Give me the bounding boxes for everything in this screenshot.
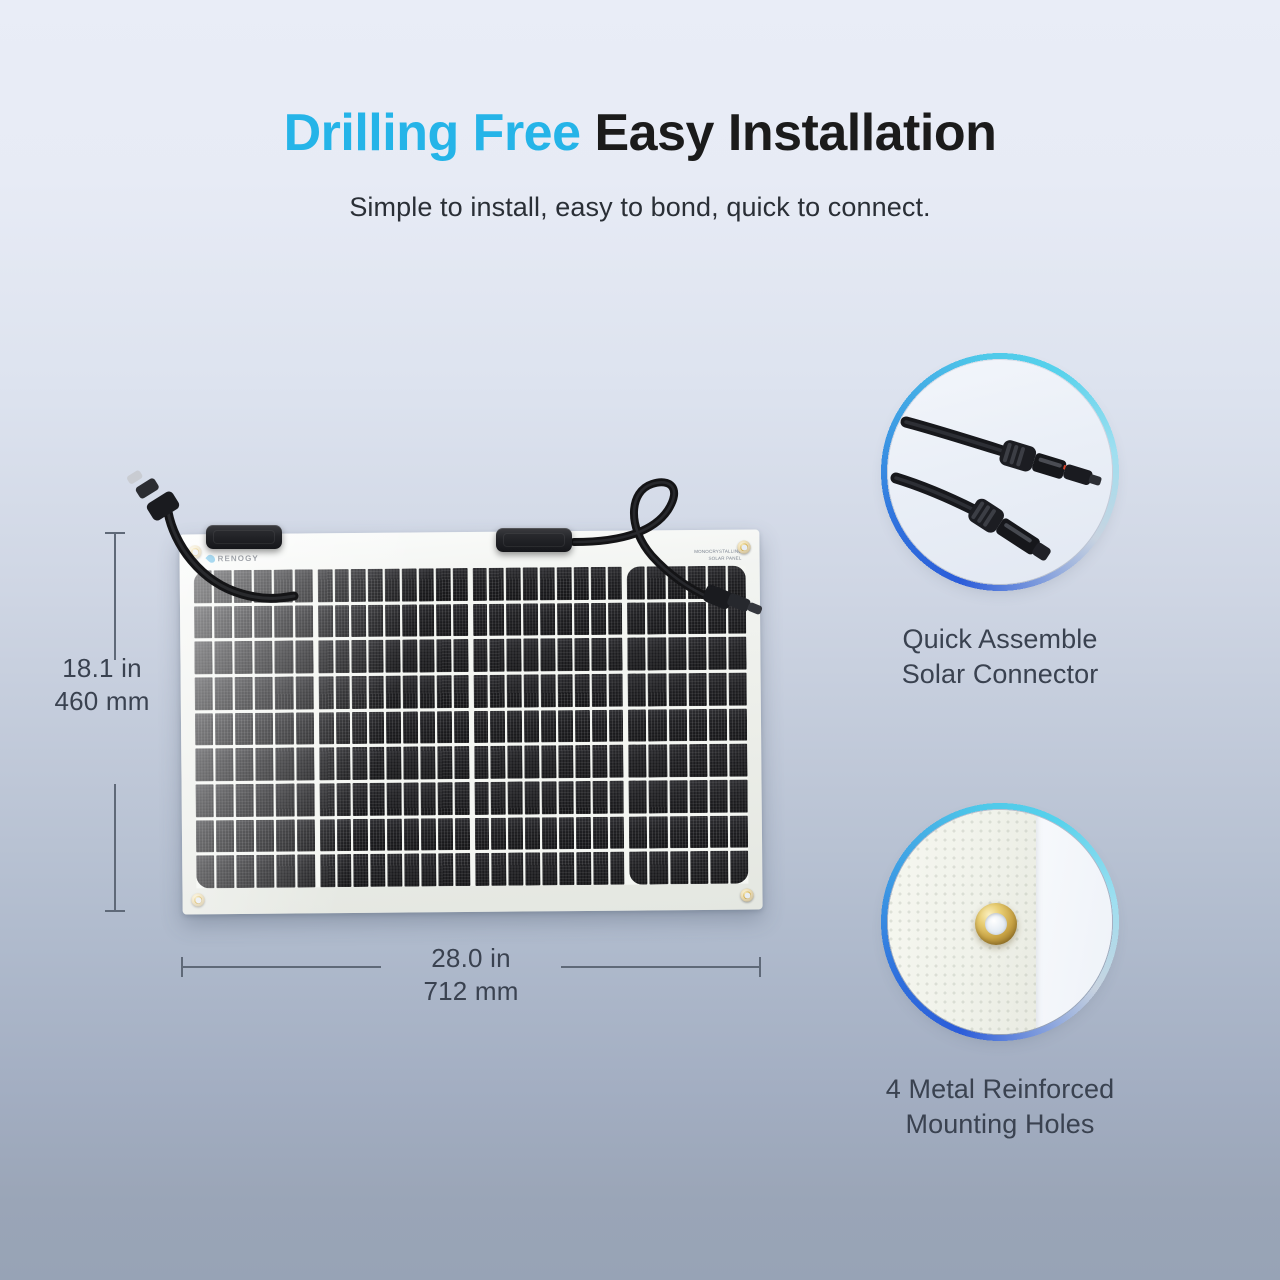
dimension-width-segment-right xyxy=(561,966,761,968)
solar-cell xyxy=(728,673,746,706)
cell-group-2 xyxy=(317,568,470,887)
solar-cell xyxy=(730,815,748,848)
solar-cell xyxy=(559,817,574,850)
solar-cell xyxy=(558,781,573,814)
solar-cell xyxy=(542,853,557,886)
solar-cell xyxy=(649,780,667,813)
dimension-width-segment-left xyxy=(181,966,381,968)
solar-cell xyxy=(420,711,435,744)
solar-cell xyxy=(557,638,572,671)
solar-cell xyxy=(196,856,214,889)
solar-cell xyxy=(728,566,746,599)
solar-cell xyxy=(593,852,608,885)
feature-solar-connector: Quick Assemble Solar Connector xyxy=(880,352,1120,691)
solar-cell xyxy=(419,640,434,673)
solar-cell xyxy=(438,818,453,851)
solar-cell xyxy=(540,603,555,636)
solar-cell xyxy=(474,818,489,851)
solar-cell xyxy=(370,854,385,887)
solar-cell xyxy=(254,605,272,638)
solar-cell xyxy=(436,640,451,673)
brand-name: RENOGY xyxy=(218,554,259,563)
solar-cell xyxy=(507,746,522,779)
dimension-width-line xyxy=(181,966,761,968)
solar-cell xyxy=(668,673,686,706)
dimension-width-metric: 712 mm xyxy=(181,975,761,1008)
solar-cell xyxy=(574,674,589,707)
solar-cell xyxy=(385,604,400,637)
solar-cell xyxy=(576,817,591,850)
cell-row xyxy=(319,711,469,745)
solar-cell xyxy=(523,603,538,636)
solar-cell xyxy=(627,566,645,599)
cell-row xyxy=(195,712,314,746)
solar-cell xyxy=(492,853,507,886)
solar-cell xyxy=(708,601,726,634)
cell-row xyxy=(474,816,624,850)
solar-cell xyxy=(295,641,313,674)
solar-cell xyxy=(435,568,450,601)
solar-cell xyxy=(351,605,366,638)
solar-cell xyxy=(524,674,539,707)
marketing-image-stage: Drilling Free Easy Installation Simple t… xyxy=(0,0,1280,1280)
dimension-height-cap-bottom xyxy=(105,910,125,912)
solar-cell xyxy=(609,781,624,814)
solar-cell xyxy=(649,816,667,849)
solar-cell xyxy=(473,675,488,708)
solar-cell xyxy=(557,674,572,707)
solar-cell xyxy=(558,710,573,743)
solar-cell xyxy=(215,713,233,746)
solar-cell xyxy=(648,673,666,706)
solar-cell xyxy=(608,638,623,671)
solar-cell xyxy=(540,567,555,600)
solar-cell xyxy=(334,569,349,602)
solar-cell xyxy=(354,854,369,887)
cell-row xyxy=(472,567,622,601)
solar-cell xyxy=(669,780,687,813)
solar-cell xyxy=(296,748,314,781)
junction-box-left xyxy=(206,525,282,549)
solar-cell xyxy=(609,745,624,778)
solar-cell xyxy=(608,709,623,742)
solar-cell xyxy=(707,566,725,599)
solar-cell xyxy=(351,569,366,602)
cell-row xyxy=(318,639,468,673)
solar-cell xyxy=(419,568,434,601)
panel-spec-text: MONOCRYSTALLINESOLAR PANEL xyxy=(694,549,741,563)
cell-row xyxy=(196,783,315,817)
solar-cell xyxy=(421,818,436,851)
solar-cell xyxy=(256,784,274,817)
solar-cell xyxy=(385,569,400,602)
solar-cell xyxy=(708,673,726,706)
solar-cell xyxy=(541,746,556,779)
cell-row xyxy=(474,781,624,815)
solar-cell xyxy=(648,638,666,671)
solar-cell xyxy=(194,642,212,675)
solar-cell xyxy=(420,747,435,780)
solar-cell xyxy=(256,748,274,781)
solar-cell xyxy=(689,816,707,849)
solar-cell xyxy=(688,637,706,670)
solar-cell xyxy=(214,606,232,639)
solar-cell xyxy=(421,854,436,887)
solar-cell xyxy=(437,747,452,780)
feature-caption-connector-line2: Solar Connector xyxy=(880,657,1120,692)
solar-cell xyxy=(559,852,574,885)
solar-cell xyxy=(234,570,252,603)
solar-cell xyxy=(454,782,469,815)
solar-cell xyxy=(490,710,505,743)
solar-cell xyxy=(453,604,468,637)
solar-cell xyxy=(352,676,367,709)
solar-cell xyxy=(542,817,557,850)
solar-cell xyxy=(576,852,591,885)
cell-row xyxy=(194,569,313,603)
solar-cell xyxy=(297,855,315,888)
solar-cell xyxy=(420,782,435,815)
solar-cell xyxy=(296,819,314,852)
solar-cell xyxy=(490,639,505,672)
solar-cell xyxy=(687,566,705,599)
feature-caption-grommet-line2: Mounting Holes xyxy=(880,1107,1120,1142)
solar-cell xyxy=(353,819,368,852)
cell-row xyxy=(317,568,467,602)
solar-cell xyxy=(557,603,572,636)
solar-cell xyxy=(404,782,419,815)
solar-cell xyxy=(319,783,334,816)
solar-cell xyxy=(628,709,646,742)
solar-cell xyxy=(369,640,384,673)
solar-cell xyxy=(525,853,540,886)
solar-cell xyxy=(590,567,605,600)
solar-cell xyxy=(575,745,590,778)
cell-row xyxy=(473,674,623,708)
solar-cell xyxy=(689,744,707,777)
solar-cell xyxy=(688,673,706,706)
solar-cell xyxy=(506,603,521,636)
solar-cell xyxy=(728,637,746,670)
solar-cell xyxy=(368,569,383,602)
solar-cell xyxy=(295,712,313,745)
solar-cell xyxy=(195,677,213,710)
solar-cell xyxy=(670,851,688,884)
solar-cell xyxy=(524,710,539,743)
feature-caption-connector-line1: Quick Assemble xyxy=(880,622,1120,657)
cell-row xyxy=(628,637,747,671)
solar-cell xyxy=(507,710,522,743)
mounting-grommet-top-right xyxy=(737,541,750,554)
solar-cell xyxy=(473,639,488,672)
solar-cell xyxy=(387,854,402,887)
solar-cell xyxy=(335,640,350,673)
solar-cell xyxy=(558,745,573,778)
solar-cell xyxy=(575,710,590,743)
mounting-grommet-bottom-right xyxy=(740,889,753,902)
solar-cell xyxy=(454,711,469,744)
solar-cell xyxy=(573,567,588,600)
solar-cell xyxy=(402,568,417,601)
solar-cell xyxy=(275,712,293,745)
cell-row xyxy=(629,851,748,885)
solar-cell xyxy=(523,567,538,600)
solar-cell xyxy=(710,815,728,848)
solar-cell xyxy=(419,604,434,637)
solar-cell xyxy=(508,817,523,850)
solar-cell xyxy=(648,709,666,742)
solar-cell xyxy=(194,570,212,603)
solar-cell xyxy=(369,711,384,744)
solar-cell xyxy=(689,780,707,813)
solar-cell xyxy=(710,851,728,884)
cell-row xyxy=(320,818,470,852)
solar-cell xyxy=(319,712,334,745)
feature-caption-grommet: 4 Metal Reinforced Mounting Holes xyxy=(880,1072,1120,1141)
solar-cell xyxy=(236,855,254,888)
solar-cell xyxy=(255,677,273,710)
solar-cell xyxy=(276,748,294,781)
solar-cell xyxy=(236,784,254,817)
cell-row xyxy=(320,853,470,887)
solar-cell xyxy=(215,748,233,781)
cell-row xyxy=(195,676,314,710)
dimension-height-label: 18.1 in 460 mm xyxy=(12,652,192,717)
solar-cell xyxy=(295,605,313,638)
dimension-height-segment-bottom xyxy=(114,784,116,912)
cell-group-3 xyxy=(472,567,625,886)
solar-cell xyxy=(387,818,402,851)
mounting-grommet-top-left xyxy=(188,545,201,558)
solar-cell xyxy=(386,711,401,744)
solar-cell xyxy=(489,568,504,601)
solar-cell xyxy=(404,854,419,887)
solar-cell xyxy=(386,676,401,709)
solar-cell xyxy=(453,639,468,672)
solar-cell xyxy=(574,638,589,671)
solar-cell xyxy=(318,676,333,709)
solar-cell xyxy=(591,638,606,671)
solar-cell xyxy=(647,566,665,599)
solar-cell xyxy=(507,639,522,672)
solar-cell xyxy=(437,711,452,744)
solar-cell xyxy=(402,604,417,637)
solar-cell xyxy=(337,854,352,887)
mc4-connector-left xyxy=(126,469,181,522)
solar-cell xyxy=(688,602,706,635)
solar-cell xyxy=(452,568,467,601)
solar-cell xyxy=(668,709,686,742)
solar-cell xyxy=(610,852,625,885)
mounting-grommet-bottom-left xyxy=(191,893,204,906)
solar-cell xyxy=(385,640,400,673)
solar-cell xyxy=(274,605,292,638)
cell-row xyxy=(475,852,625,886)
solar-cell xyxy=(370,747,385,780)
cell-row xyxy=(629,744,748,778)
feature-circle-grommet xyxy=(880,802,1120,1042)
solar-cell xyxy=(629,816,647,849)
solar-cell xyxy=(335,712,350,745)
solar-cell xyxy=(403,675,418,708)
solar-cell xyxy=(369,676,384,709)
solar-cell xyxy=(234,606,252,639)
solar-cell xyxy=(709,708,727,741)
solar-cell xyxy=(474,746,489,779)
solar-cell xyxy=(274,570,292,603)
solar-cell xyxy=(320,819,335,852)
solar-cell xyxy=(214,641,232,674)
dimension-width-label: 28.0 in 712 mm xyxy=(181,942,761,1007)
solar-cell xyxy=(541,674,556,707)
solar-cell xyxy=(235,748,253,781)
solar-cell xyxy=(491,746,506,779)
solar-cell xyxy=(318,641,333,674)
solar-cell xyxy=(275,677,293,710)
solar-cell xyxy=(491,817,506,850)
solar-cell xyxy=(689,709,707,742)
solar-cell xyxy=(609,816,624,849)
solar-cell xyxy=(591,602,606,635)
solar-cell xyxy=(196,784,214,817)
cell-row xyxy=(196,819,315,853)
page-subtitle: Simple to install, easy to bond, quick t… xyxy=(0,192,1280,223)
junction-box-right xyxy=(496,528,572,552)
solar-cell xyxy=(216,820,234,853)
cell-row xyxy=(196,855,315,889)
solar-cell xyxy=(608,674,623,707)
solar-cell xyxy=(668,637,686,670)
solar-cell xyxy=(607,567,622,600)
header: Drilling Free Easy Installation Simple t… xyxy=(0,104,1280,223)
solar-cell xyxy=(540,639,555,672)
solar-cell xyxy=(574,603,589,636)
solar-cell xyxy=(650,852,668,885)
solar-cell xyxy=(420,675,435,708)
solar-cell xyxy=(453,675,468,708)
solar-cell xyxy=(627,602,645,635)
solar-cell xyxy=(255,641,273,674)
dimension-height-segment-top xyxy=(114,532,116,660)
dimension-height-imperial: 18.1 in xyxy=(12,652,192,685)
feature-caption-connector: Quick Assemble Solar Connector xyxy=(880,622,1120,691)
solar-cell xyxy=(403,711,418,744)
solar-cell xyxy=(629,852,647,885)
solar-cell xyxy=(690,851,708,884)
solar-cell xyxy=(729,744,747,777)
solar-cell xyxy=(256,855,274,888)
solar-cell xyxy=(525,781,540,814)
solar-cell xyxy=(336,783,351,816)
solar-cell xyxy=(294,569,312,602)
solar-cell xyxy=(729,780,747,813)
solar-cell xyxy=(235,641,253,674)
dimension-width-cap-right xyxy=(759,957,761,977)
solar-cell xyxy=(491,782,506,815)
cell-row xyxy=(194,605,313,639)
cell-row xyxy=(195,748,314,782)
solar-cell xyxy=(235,713,253,746)
solar-cell xyxy=(647,602,665,635)
solar-cell xyxy=(195,749,213,782)
solar-cell xyxy=(592,781,607,814)
solar-cell xyxy=(628,673,646,706)
solar-cell xyxy=(575,781,590,814)
solar-cell xyxy=(524,746,539,779)
water-drop-icon xyxy=(205,553,216,564)
product-panel-block: 18.1 in 460 mm RENOGY MONOCRYSTALLINESOL… xyxy=(96,470,796,1030)
headline-accent-text: Drilling Free xyxy=(284,104,581,162)
cell-row xyxy=(319,782,469,816)
solar-cell xyxy=(472,604,487,637)
cell-row xyxy=(629,815,748,849)
solar-cell xyxy=(335,605,350,638)
headline-plain-text: Easy Installation xyxy=(594,104,996,162)
feature-caption-grommet-line1: 4 Metal Reinforced xyxy=(880,1072,1120,1107)
solar-cell xyxy=(542,781,557,814)
cell-row xyxy=(318,604,468,638)
cell-group-4 xyxy=(627,566,748,885)
solar-cell xyxy=(256,819,274,852)
solar-cell xyxy=(629,745,647,778)
solar-cell xyxy=(277,855,295,888)
solar-cell xyxy=(591,674,606,707)
solar-cell xyxy=(507,675,522,708)
solar-cell xyxy=(709,780,727,813)
solar-cell xyxy=(730,851,748,884)
solar-panel: RENOGY MONOCRYSTALLINESOLAR PANEL xyxy=(179,529,762,914)
solar-cell xyxy=(352,712,367,745)
solar-cell xyxy=(628,638,646,671)
solar-cell xyxy=(523,639,538,672)
solar-cell xyxy=(195,713,213,746)
dimension-height-line xyxy=(114,532,116,912)
solar-cell xyxy=(216,855,234,888)
cell-row xyxy=(472,602,622,636)
feature-circle-connector xyxy=(880,352,1120,592)
solar-cell xyxy=(438,854,453,887)
solar-cell xyxy=(196,820,214,853)
cell-row xyxy=(319,746,469,780)
solar-cell xyxy=(592,817,607,850)
solar-cell xyxy=(370,783,385,816)
solar-cell xyxy=(475,853,490,886)
solar-cell xyxy=(319,748,334,781)
solar-cell xyxy=(473,711,488,744)
solar-cell xyxy=(336,819,351,852)
solar-cell xyxy=(296,783,314,816)
cell-row xyxy=(473,638,623,672)
feature-ring-grommet xyxy=(880,802,1120,1042)
solar-cell xyxy=(295,676,313,709)
solar-cell xyxy=(592,710,607,743)
solar-cell xyxy=(336,747,351,780)
solar-cell xyxy=(215,677,233,710)
solar-cell xyxy=(402,640,417,673)
solar-cell xyxy=(404,818,419,851)
solar-cell xyxy=(320,855,335,888)
page-title: Drilling Free Easy Installation xyxy=(0,104,1280,164)
solar-cell xyxy=(506,568,521,601)
solar-cell xyxy=(235,677,253,710)
cell-row xyxy=(628,673,747,707)
solar-cell xyxy=(629,780,647,813)
solar-cell xyxy=(353,747,368,780)
solar-cell xyxy=(318,605,333,638)
solar-cell xyxy=(254,570,272,603)
solar-cell xyxy=(474,782,489,815)
solar-cell xyxy=(317,569,332,602)
